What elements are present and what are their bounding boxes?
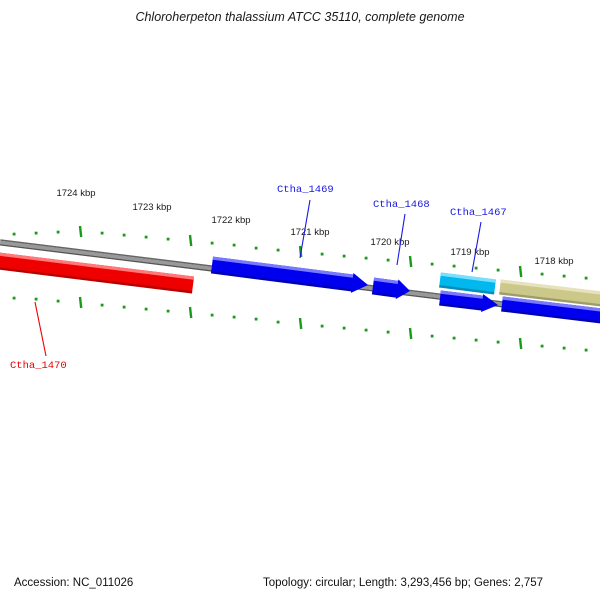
genome-map-canvas[interactable]: Chloroherpeton thalassium ATCC 35110, co… <box>0 0 600 600</box>
gene-label[interactable]: Ctha_1468 <box>373 199 430 211</box>
ruler-minor-tick <box>365 329 368 332</box>
ruler-minor-tick <box>145 308 148 311</box>
gene-label[interactable]: Ctha_1469 <box>277 184 334 196</box>
ruler-minor-tick <box>13 233 16 236</box>
ruler-minor-tick <box>101 304 104 307</box>
ruler-major-tick <box>300 318 301 329</box>
ruler-minor-tick <box>277 321 280 324</box>
ruler-minor-tick <box>475 267 478 270</box>
ruler-minor-tick <box>541 345 544 348</box>
ruler-minor-tick <box>233 244 236 247</box>
ruler-minor-tick <box>541 273 544 276</box>
ruler-minor-tick <box>387 331 390 334</box>
ruler-position-label: 1720 kbp <box>370 237 409 248</box>
ruler-minor-tick <box>255 247 258 250</box>
ruler-minor-tick <box>255 318 258 321</box>
genome-map-viewer[interactable]: Chloroherpeton thalassium ATCC 35110, co… <box>0 0 600 600</box>
ruler-minor-tick <box>343 255 346 258</box>
ruler-major-tick <box>410 328 411 339</box>
ruler-minor-tick <box>387 259 390 262</box>
genome-stats-label: Topology: circular; Length: 3,293,456 bp… <box>263 577 543 589</box>
ruler-major-tick <box>80 297 81 308</box>
ruler-minor-tick <box>563 275 566 278</box>
ruler-minor-tick <box>585 277 588 280</box>
ruler-minor-tick <box>123 234 126 237</box>
ruler-minor-tick <box>497 341 500 344</box>
ruler-major-tick <box>520 266 521 277</box>
ruler-minor-tick <box>453 337 456 340</box>
ruler-minor-tick <box>145 236 148 239</box>
ruler-position-label: 1724 kbp <box>56 188 95 199</box>
ruler-minor-tick <box>585 349 588 352</box>
ruler-minor-tick <box>57 300 60 303</box>
ruler-minor-tick <box>211 314 214 317</box>
ruler-minor-tick <box>233 316 236 319</box>
ruler-minor-tick <box>167 310 170 313</box>
ruler-minor-tick <box>431 263 434 266</box>
ruler-minor-tick <box>211 242 214 245</box>
ruler-minor-tick <box>277 249 280 252</box>
ruler-minor-tick <box>35 298 38 301</box>
ruler-minor-tick <box>321 253 324 256</box>
ruler-minor-tick <box>475 339 478 342</box>
ruler-major-tick <box>80 226 81 237</box>
ruler-position-label: 1722 kbp <box>211 215 250 226</box>
gene-label[interactable]: Ctha_1470 <box>10 360 67 372</box>
ruler-minor-tick <box>123 306 126 309</box>
ruler-minor-tick <box>167 238 170 241</box>
ruler-minor-tick <box>431 335 434 338</box>
ruler-position-label: 1718 kbp <box>534 256 573 267</box>
ruler-minor-tick <box>57 231 60 234</box>
ruler-minor-tick <box>343 327 346 330</box>
ruler-minor-tick <box>321 325 324 328</box>
ruler-minor-tick <box>563 347 566 350</box>
ruler-minor-tick <box>497 269 500 272</box>
ruler-major-tick <box>190 235 191 246</box>
accession-label: Accession: NC_011026 <box>14 577 133 589</box>
ruler-major-tick <box>410 256 411 267</box>
ruler-minor-tick <box>453 265 456 268</box>
ruler-minor-tick <box>365 257 368 260</box>
ruler-position-label: 1723 kbp <box>132 202 171 213</box>
gene-label[interactable]: Ctha_1467 <box>450 207 507 219</box>
ruler-major-tick <box>190 307 191 318</box>
ruler-minor-tick <box>101 232 104 235</box>
ruler-major-tick <box>520 338 521 349</box>
ruler-minor-tick <box>13 297 16 300</box>
ruler-position-label: 1719 kbp <box>450 247 489 258</box>
ruler-position-label: 1721 kbp <box>290 227 329 238</box>
page-title: Chloroherpeton thalassium ATCC 35110, co… <box>135 10 464 24</box>
ruler-minor-tick <box>35 232 38 235</box>
